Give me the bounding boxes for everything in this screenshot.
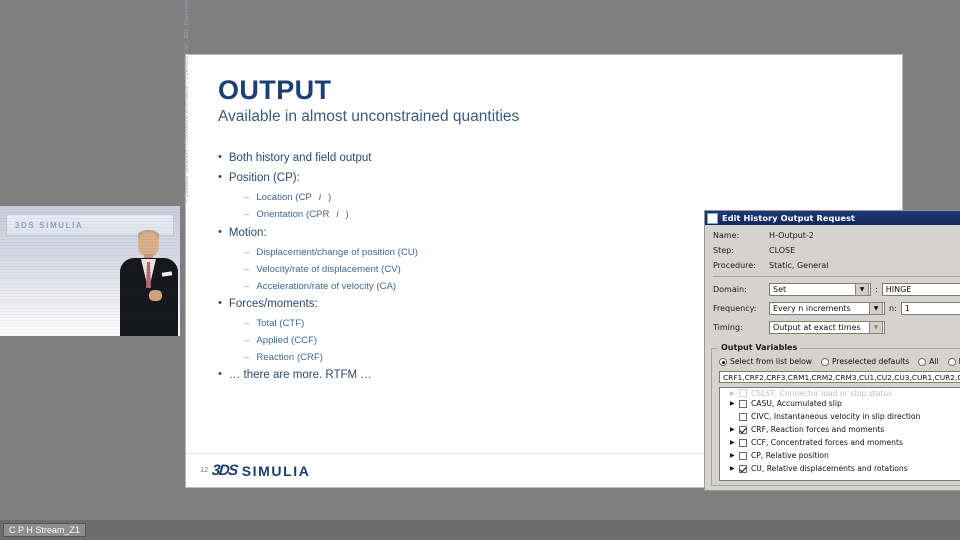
bullet-item: –Displacement/change of position (CU): [244, 247, 538, 258]
checkbox-icon[interactable]: [739, 426, 747, 434]
domain-separator: :: [875, 285, 878, 294]
dialog-body: Name: H-Output-2 Step: CLOSE Procedure: …: [705, 225, 960, 334]
slide-page-number: 12: [200, 465, 208, 474]
bullet-text: Position (CP):: [229, 172, 300, 185]
dialog-title-bar[interactable]: Edit History Output Request ✕: [705, 211, 960, 225]
radio-button-icon[interactable]: [918, 358, 926, 366]
edit-history-output-request-dialog: Edit History Output Request ✕ Name: H-Ou…: [704, 210, 960, 491]
radio-option[interactable]: Edit variables: [948, 357, 960, 366]
output-variables-tree[interactable]: ▶CSLST, Connector load or stop status▶CA…: [720, 388, 960, 480]
bullet-text: Applied (CCF): [256, 335, 317, 346]
bullet-dash-icon: –: [244, 192, 249, 203]
bullet-dot-icon: •: [218, 369, 222, 381]
bullet-text: Reaction (CRF): [256, 352, 323, 363]
output-variables-tree-wrapper: ▶CSLST, Connector load or stop status▶CA…: [719, 387, 960, 481]
dialog-title: Edit History Output Request: [722, 213, 960, 223]
tree-row[interactable]: ▶CCF, Concentrated forces and moments: [720, 436, 960, 449]
bullet-dash-icon: –: [244, 264, 249, 275]
radio-option[interactable]: Preselected defaults: [821, 357, 909, 366]
bullet-dot-icon: •: [218, 298, 222, 310]
expand-arrow-icon[interactable]: ▶: [730, 390, 739, 397]
output-variables-group-label: Output Variables: [718, 343, 800, 352]
tree-row-label: CIVC, Instantaneous velocity in slip dir…: [751, 412, 920, 421]
expand-arrow-icon[interactable]: ▶: [730, 400, 739, 407]
bullet-dash-icon: –: [244, 335, 249, 346]
bullet-text: Motion:: [229, 227, 267, 240]
expand-arrow-icon[interactable]: ▶: [730, 465, 739, 472]
bullet-text: Both history and field output: [229, 152, 372, 165]
n-increments-input[interactable]: 1: [901, 302, 960, 315]
tree-row-label: CRF, Reaction forces and moments: [751, 425, 884, 434]
bullet-dot-icon: •: [218, 152, 222, 164]
step-value: CLOSE: [769, 246, 960, 255]
frequency-row: Frequency: Every n increments ▼ n: 1: [713, 302, 960, 315]
video-banner-logo: 3DS SIMULIA: [15, 221, 83, 230]
bullet-item: •… there are more. RTFM …: [218, 369, 538, 382]
expand-arrow-icon[interactable]: ▶: [730, 426, 739, 433]
bullet-item: –Total (CTF): [244, 318, 538, 329]
checkbox-icon[interactable]: [739, 400, 747, 408]
chevron-down-icon[interactable]: ▼: [855, 283, 869, 296]
step-label: Step:: [713, 246, 769, 255]
tree-row[interactable]: CIVC, Instantaneous velocity in slip dir…: [720, 410, 960, 423]
bullet-item: •Forces/moments:: [218, 298, 538, 311]
bullet-text: Displacement/change of position (CU): [256, 247, 418, 258]
frequency-select-value: Every n increments: [773, 304, 869, 313]
bullet-text-italic: i: [336, 209, 338, 220]
timing-select[interactable]: Output at exact times ▼: [769, 321, 885, 334]
bullet-text: … there are more. RTFM …: [229, 369, 372, 382]
os-taskbar: C P H Stream_Z1: [0, 520, 960, 540]
bullet-item: –Acceleration/rate of velocity (CA): [244, 281, 538, 292]
bullet-text: Acceleration/rate of velocity (CA): [256, 281, 396, 292]
radio-button-icon[interactable]: [948, 358, 956, 366]
info-row-step: Step: CLOSE: [713, 246, 960, 255]
bullet-item: •Both history and field output: [218, 152, 538, 165]
bullet-text: Velocity/rate of displacement (CV): [256, 264, 401, 275]
bullet-text-tail: ): [328, 192, 331, 203]
domain-set-value: HINGE: [886, 285, 960, 294]
bullet-item: –Applied (CCF): [244, 335, 538, 346]
radio-button-icon[interactable]: [821, 358, 829, 366]
tree-row-label: CU, Relative displacements and rotations: [751, 464, 908, 473]
presenter-figure: [118, 228, 180, 336]
expand-arrow-icon[interactable]: ▶: [730, 452, 739, 459]
radio-label: All: [929, 357, 938, 366]
checkbox-icon[interactable]: [739, 452, 747, 460]
name-value: H-Output-2: [769, 231, 960, 240]
bullet-dash-icon: –: [244, 352, 249, 363]
bullet-text: Orientation (CPR: [256, 209, 329, 220]
tree-row[interactable]: ▶CSLST, Connector load or stop status: [720, 389, 960, 397]
checkbox-icon[interactable]: [739, 465, 747, 473]
domain-select[interactable]: Set ▼: [769, 283, 871, 296]
radio-button-icon[interactable]: [719, 358, 727, 366]
info-row-name: Name: H-Output-2: [713, 231, 960, 240]
expand-arrow-icon[interactable]: ▶: [730, 439, 739, 446]
frequency-label: Frequency:: [713, 304, 769, 313]
dialog-divider: [713, 276, 960, 277]
bullet-item: –Velocity/rate of displacement (CV): [244, 264, 538, 275]
timing-row: Timing: Output at exact times ▼: [713, 321, 960, 334]
bullet-text: Forces/moments:: [229, 298, 318, 311]
bullet-text-tail: ): [346, 209, 349, 220]
tree-row-label: CP, Relative position: [751, 451, 829, 460]
bullet-dash-icon: –: [244, 281, 249, 292]
output-variables-input[interactable]: CRF1,CRF2,CRF3,CRM1,CRM2,CRM3,CU1,CU2,CU…: [719, 371, 960, 383]
frequency-select[interactable]: Every n increments ▼: [769, 302, 885, 315]
checkbox-icon[interactable]: [739, 439, 747, 447]
presenter-hand: [149, 290, 162, 301]
checkbox-icon[interactable]: [739, 389, 747, 397]
radio-option[interactable]: Select from list below: [719, 357, 812, 366]
tree-row[interactable]: ▶CASU, Accumulated slip: [720, 397, 960, 410]
page-title: OUTPUT: [218, 75, 331, 106]
bullet-item: –Orientation (CPRi): [244, 209, 538, 220]
domain-set-select[interactable]: HINGE ▼: [882, 283, 960, 296]
bullet-item: •Position (CP):: [218, 172, 538, 185]
name-label: Name:: [713, 231, 769, 240]
bullet-dash-icon: –: [244, 247, 249, 258]
tree-row[interactable]: ▶CP, Relative position: [720, 449, 960, 462]
timing-label: Timing:: [713, 323, 769, 332]
bullet-dot-icon: •: [218, 227, 222, 239]
bullet-item: –Location (CPi): [244, 192, 538, 203]
domain-select-value: Set: [773, 285, 855, 294]
bullet-dot-icon: •: [218, 172, 222, 184]
bullet-text: Total (CTF): [256, 318, 304, 329]
presentation-slide: © Dassault Systèmes | Confidential Infor…: [186, 55, 902, 487]
radio-option[interactable]: All: [918, 357, 938, 366]
simulia-wordmark: SIMULIA: [242, 463, 311, 479]
page-subtitle: Available in almost unconstrained quanti…: [218, 108, 519, 126]
bullet-dash-icon: –: [244, 318, 249, 329]
procedure-label: Procedure:: [713, 261, 769, 270]
taskbar-window-button[interactable]: C P H Stream_Z1: [3, 523, 86, 537]
bullet-item: •Motion:: [218, 227, 538, 240]
chevron-down-icon[interactable]: ▼: [869, 302, 883, 315]
slide-copyright-note: © Dassault Systèmes | Confidential Infor…: [184, 3, 190, 205]
tree-row[interactable]: ▶CU, Relative displacements and rotation…: [720, 462, 960, 475]
tree-row[interactable]: ▶CRF, Reaction forces and moments: [720, 423, 960, 436]
checkbox-icon[interactable]: [739, 413, 747, 421]
ds-mark-icon: 3DS: [211, 462, 237, 479]
presenter-video-overlay: 3DS SIMULIA: [0, 206, 180, 336]
simulia-logo: 3DS SIMULIA: [212, 462, 310, 479]
radio-label: Preselected defaults: [832, 357, 909, 366]
bullet-text-italic: i: [319, 192, 321, 203]
tree-row-label: CSLST, Connector load or stop status: [751, 389, 892, 398]
radio-label: Select from list below: [730, 357, 812, 366]
domain-row: Domain: Set ▼ : HINGE ▼: [713, 283, 960, 296]
tree-row-label: CCF, Concentrated forces and moments: [751, 438, 903, 447]
domain-label: Domain:: [713, 285, 769, 294]
bullet-dash-icon: –: [244, 209, 249, 220]
n-label: n:: [889, 304, 897, 313]
chevron-down-icon[interactable]: ▼: [869, 321, 883, 334]
bullet-list: •Both history and field output•Position …: [218, 152, 538, 389]
output-variables-group: Output Variables Select from list belowP…: [711, 348, 960, 486]
window-icon: [707, 213, 718, 224]
procedure-value: Static, General: [769, 261, 960, 270]
timing-select-value: Output at exact times: [773, 323, 869, 332]
bullet-item: –Reaction (CRF): [244, 352, 538, 363]
bullet-text: Location (CP: [256, 192, 311, 203]
tree-row-label: CASU, Accumulated slip: [751, 399, 842, 408]
info-row-procedure: Procedure: Static, General: [713, 261, 960, 270]
